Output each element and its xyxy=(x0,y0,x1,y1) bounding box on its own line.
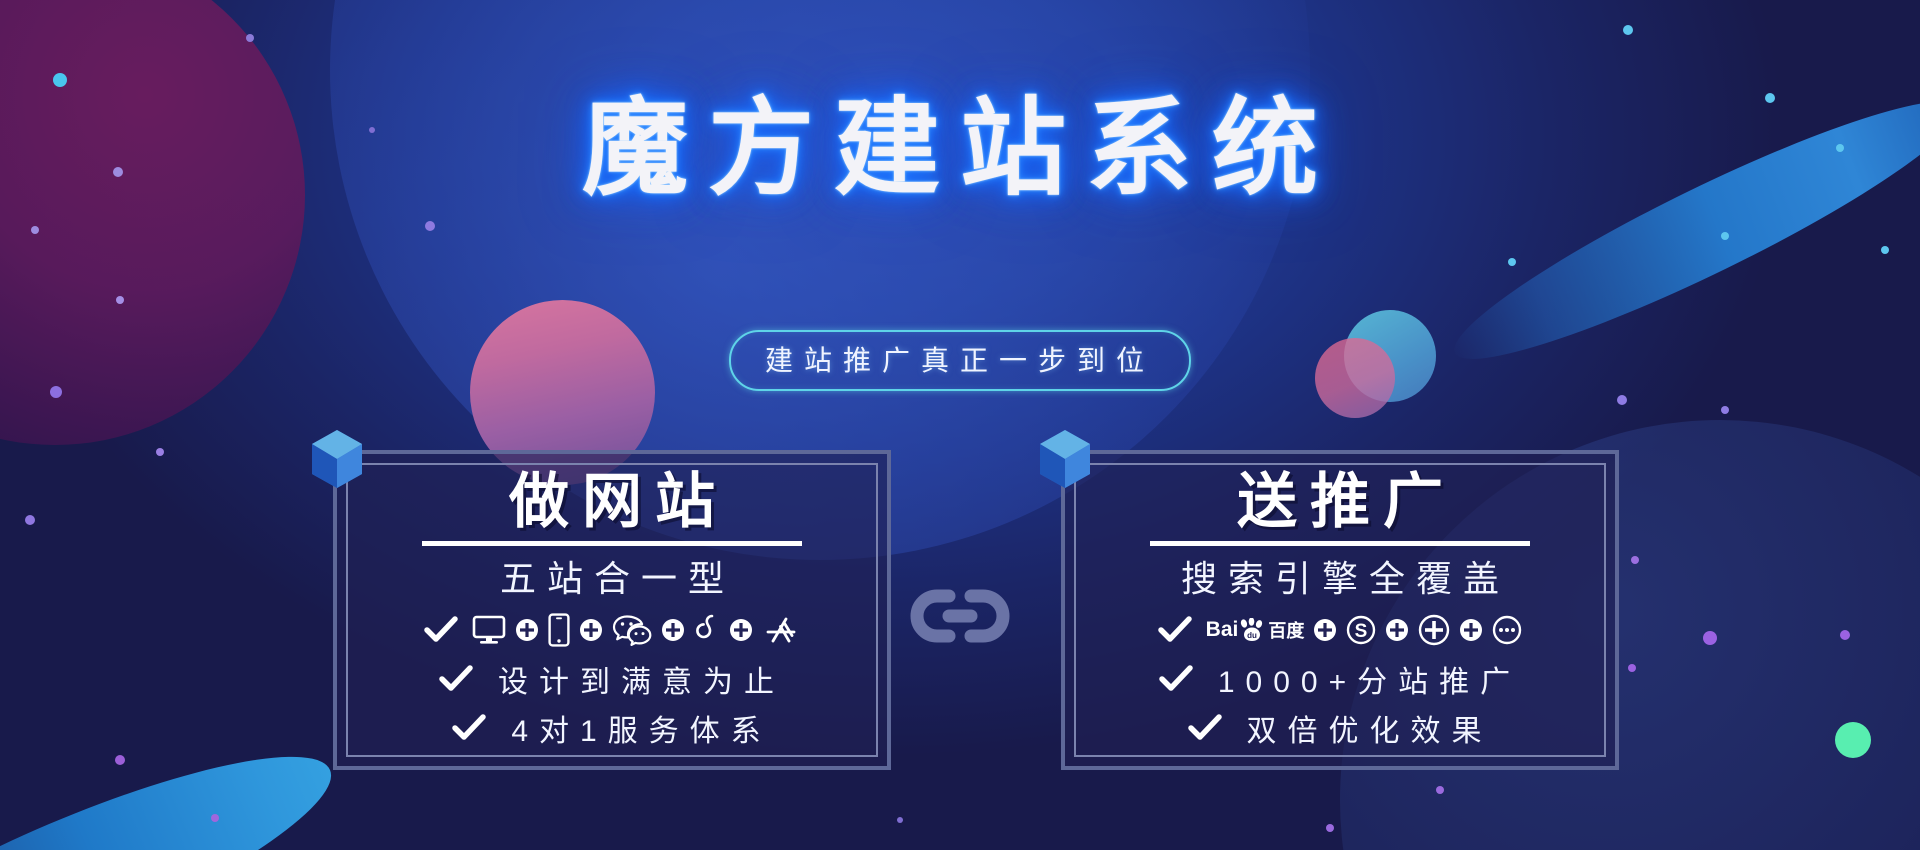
feature-text: 4对1服务体系 xyxy=(500,706,771,750)
star-dot xyxy=(425,221,435,231)
star-dot xyxy=(1721,406,1729,414)
360-search-icon xyxy=(1418,614,1450,646)
plus-icon xyxy=(1313,618,1337,642)
plus-icon xyxy=(579,618,603,642)
star-dot xyxy=(1628,664,1636,672)
star-dot xyxy=(115,755,125,765)
plus-icon xyxy=(661,618,685,642)
cyan-bubble xyxy=(1344,310,1436,402)
star-dot xyxy=(1721,232,1729,240)
plus-icon xyxy=(1385,618,1409,642)
plus-icon xyxy=(1459,618,1483,642)
baidu-latin-text: Bai xyxy=(1206,618,1239,642)
check-icon xyxy=(1188,714,1222,742)
subtitle-text: 建站推广真正一步到位 xyxy=(765,339,1155,379)
star-dot xyxy=(1631,556,1639,564)
subtitle-pill: 建站推广真正一步到位 xyxy=(729,330,1191,391)
star-dot xyxy=(25,515,35,525)
comet-streak-left xyxy=(0,715,353,850)
panel-left-title: 做网站 xyxy=(496,471,728,532)
feature-row-double-effect: 双倍优化效果 xyxy=(1065,707,1615,749)
baidu-paw-icon: du xyxy=(1239,618,1265,642)
star-dot xyxy=(897,817,903,823)
plus-icon xyxy=(729,618,753,642)
feature-text: 设计到满意为止 xyxy=(487,657,785,701)
check-icon xyxy=(1159,665,1193,693)
mobile-phone-icon xyxy=(548,613,570,647)
star-dot xyxy=(246,34,254,42)
star-dot xyxy=(1623,25,1633,35)
star-dot xyxy=(116,296,124,304)
chain-link-icon xyxy=(905,585,1015,647)
sogou-icon: S xyxy=(1346,615,1376,645)
star-dot xyxy=(1703,631,1717,645)
check-icon xyxy=(439,665,473,693)
panel-right-body: 送推广 搜索引擎全覆盖 Bai du xyxy=(1065,454,1615,749)
check-icon xyxy=(424,616,458,644)
panel-left-subtitle: 五站合一型 xyxy=(337,550,887,602)
panel-right-subtitle: 搜索引擎全覆盖 xyxy=(1065,550,1615,602)
plus-icon xyxy=(515,618,539,642)
star-dot xyxy=(50,386,62,398)
panel-free-promotion: 送推广 搜索引擎全覆盖 Bai du xyxy=(1061,450,1619,770)
star-dot xyxy=(211,814,219,822)
wechat-icon xyxy=(612,614,652,646)
app-store-icon xyxy=(762,615,800,645)
search-engine-icon-row: Bai du 百度 xyxy=(1206,614,1523,646)
feature-row-service: 4对1服务体系 xyxy=(337,707,887,749)
star-dot xyxy=(53,73,67,87)
svg-text:du: du xyxy=(1247,631,1257,640)
star-dot xyxy=(1617,395,1627,405)
feature-row-design: 设计到满意为止 xyxy=(337,658,887,700)
star-dot xyxy=(1881,246,1889,254)
platform-icon-row xyxy=(472,613,800,647)
panel-right-title-rule xyxy=(1150,541,1530,546)
star-dot xyxy=(1840,630,1850,640)
background-circle-purple xyxy=(0,0,305,445)
star-dot xyxy=(31,226,39,234)
pink-bubble xyxy=(1315,338,1395,418)
panel-make-website: 做网站 五站合一型 xyxy=(333,450,891,770)
feature-text: 1000+分站推广 xyxy=(1207,657,1521,701)
star-dot xyxy=(1436,786,1444,794)
panel-right-title: 送推广 xyxy=(1224,471,1456,532)
more-engines-icon xyxy=(1492,615,1522,645)
feature-text: 双倍优化效果 xyxy=(1236,706,1493,750)
star-dot xyxy=(1508,258,1516,266)
feature-row-subsites: 1000+分站推广 xyxy=(1065,658,1615,700)
mini-program-icon xyxy=(694,613,720,647)
page-title: 魔方建站系统 xyxy=(0,96,1920,202)
svg-text:S: S xyxy=(1355,621,1368,642)
baidu-chinese-text: 百度 xyxy=(1268,617,1304,643)
panel-left-title-rule xyxy=(422,541,802,546)
desktop-monitor-icon xyxy=(472,615,506,645)
promo-banner: 魔方建站系统 建站推广真正一步到位 做网站 五站合一型 xyxy=(0,0,1920,850)
star-dot xyxy=(1326,824,1334,832)
feature-row-platforms xyxy=(337,609,887,651)
baidu-logo-icon: Bai du 百度 xyxy=(1206,617,1305,643)
check-icon xyxy=(1158,616,1192,644)
feature-row-search-engines: Bai du 百度 xyxy=(1065,609,1615,651)
green-dot xyxy=(1835,722,1871,758)
check-icon xyxy=(452,714,486,742)
star-dot xyxy=(156,448,164,456)
panel-left-body: 做网站 五站合一型 xyxy=(337,454,887,749)
